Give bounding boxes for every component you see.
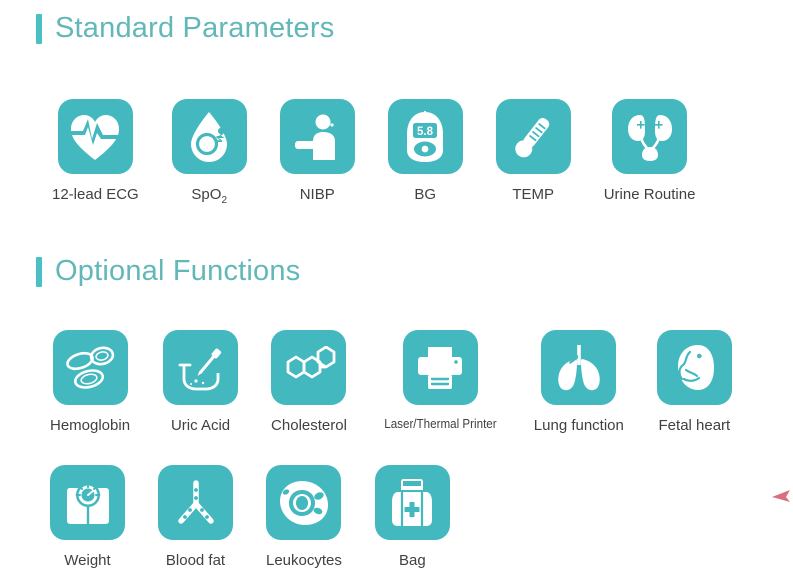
item-hemoglobin[interactable]: Hemoglobin (50, 330, 130, 433)
item-fetal-heart[interactable]: Fetal heart (657, 330, 732, 433)
section-heading-standard-parameters: Standard Parameters (36, 12, 334, 45)
section-heading-optional-functions: Optional Functions (36, 255, 300, 288)
optional-functions-row-1: Hemoglobin (50, 330, 732, 433)
blood-pressure-cuff-icon (280, 99, 355, 174)
oxygen-droplet-icon: 2 (172, 99, 247, 174)
parameters-overview-page: Standard Parameters 12-lead ECG 2 (0, 0, 793, 579)
item-label: SpO2 (191, 187, 227, 202)
pipette-beaker-icon (163, 330, 238, 405)
item-label: Uric Acid (171, 418, 230, 433)
item-label: 12-lead ECG (52, 187, 139, 202)
red-arrow-marker (768, 489, 790, 503)
heart-ecg-icon (58, 99, 133, 174)
item-bg[interactable]: 5.8 BG (388, 99, 463, 202)
item-label: Weight (64, 553, 110, 568)
medical-bag-icon (375, 465, 450, 540)
molecule-structure-icon (271, 330, 346, 405)
item-leukocytes[interactable]: Leukocytes (266, 465, 342, 568)
item-bag[interactable]: Bag (375, 465, 450, 568)
standard-parameters-row: 12-lead ECG 2 SpO2 (52, 99, 695, 202)
item-label: Lung function (534, 418, 624, 433)
item-spo2[interactable]: 2 SpO2 (172, 99, 247, 202)
heading-accent-bar (36, 257, 42, 287)
svg-text:2: 2 (218, 129, 224, 141)
section-title: Standard Parameters (55, 12, 334, 45)
weight-scale-icon (50, 465, 125, 540)
item-label: Urine Routine (604, 187, 696, 202)
item-cholesterol[interactable]: Cholesterol (271, 330, 347, 433)
item-label: Blood fat (166, 553, 225, 568)
item-label: TEMP (512, 187, 554, 202)
printer-icon (403, 330, 478, 405)
item-label: Hemoglobin (50, 418, 130, 433)
blood-fat-icon (158, 465, 233, 540)
item-lung-function[interactable]: Lung function (534, 330, 624, 433)
item-label: Bag (399, 553, 426, 568)
lungs-icon (541, 330, 616, 405)
item-label: Leukocytes (266, 553, 342, 568)
optional-functions-row-2: Weight (50, 465, 450, 568)
section-title: Optional Functions (55, 255, 300, 288)
item-label: Fetal heart (659, 418, 731, 433)
item-12-lead-ecg[interactable]: 12-lead ECG (52, 99, 139, 202)
red-blood-cells-icon (53, 330, 128, 405)
item-temp[interactable]: TEMP (496, 99, 571, 202)
item-weight[interactable]: Weight (50, 465, 125, 568)
item-label: NIBP (300, 187, 335, 202)
white-blood-cell-icon (266, 465, 341, 540)
item-urine-routine[interactable]: Urine Routine (604, 99, 696, 202)
item-uric-acid[interactable]: Uric Acid (163, 330, 238, 433)
kidneys-bladder-icon (612, 99, 687, 174)
fetus-icon (657, 330, 732, 405)
item-printer[interactable]: Laser/Thermal Printer (380, 330, 501, 433)
item-label: Cholesterol (271, 418, 347, 433)
item-label: Laser/Thermal Printer (384, 418, 496, 431)
heading-accent-bar (36, 14, 42, 44)
item-nibp[interactable]: NIBP (280, 99, 355, 202)
thermometer-icon (496, 99, 571, 174)
glucose-reading: 5.8 (417, 126, 434, 138)
glucose-meter-icon: 5.8 (388, 99, 463, 174)
item-blood-fat[interactable]: Blood fat (158, 465, 233, 568)
item-label: BG (414, 187, 436, 202)
